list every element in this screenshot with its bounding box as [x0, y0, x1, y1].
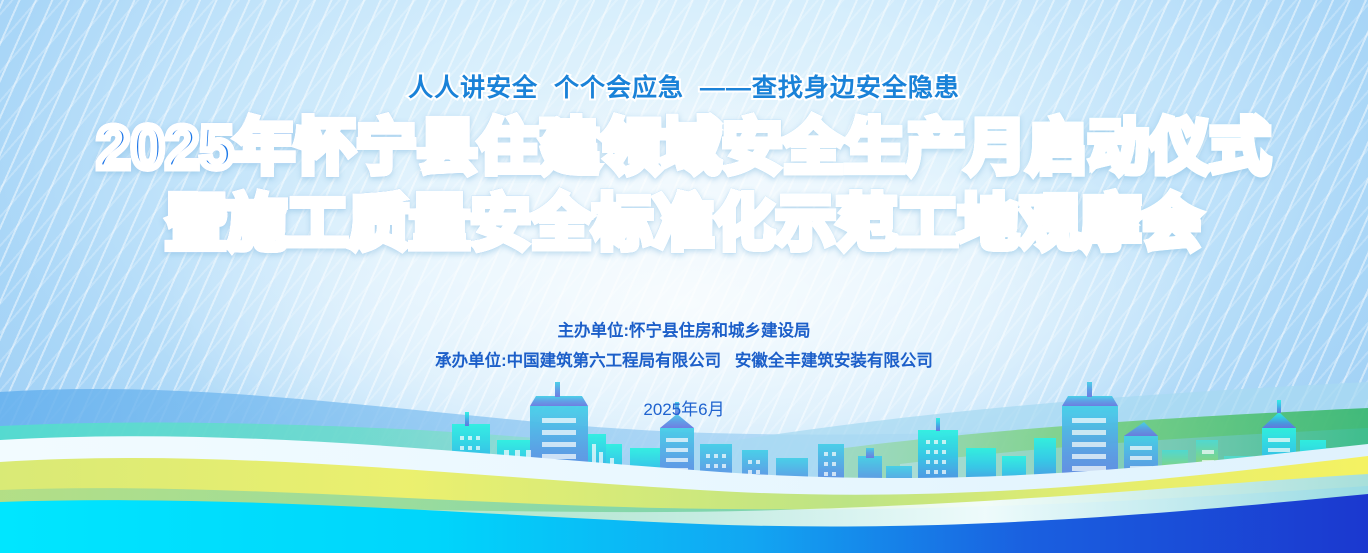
- title-line-2: 暨施工质量安全标准化示范工地观摩会: [0, 186, 1368, 262]
- co-organizer-line: 承办单位:中国建筑第六工程局有限公司 安徽全丰建筑安装有限公司: [0, 346, 1368, 376]
- event-slogan: 人人讲安全 个个会应急 ——查找身边安全隐患: [0, 68, 1368, 104]
- main-title: 2025年怀宁县住建领域安全生产月启动仪式 暨施工质量安全标准化示范工地观摩会: [0, 110, 1368, 262]
- event-date: 2025年6月: [0, 395, 1368, 425]
- organizer-block: 主办单位:怀宁县住房和城乡建设局 承办单位:中国建筑第六工程局有限公司 安徽全丰…: [0, 316, 1368, 425]
- organizer-line: 主办单位:怀宁县住房和城乡建设局: [0, 316, 1368, 346]
- title-line-1: 2025年怀宁县住建领域安全生产月启动仪式: [0, 110, 1368, 186]
- event-banner: 人人讲安全 个个会应急 ——查找身边安全隐患 2025年怀宁县住建领域安全生产月…: [0, 0, 1368, 553]
